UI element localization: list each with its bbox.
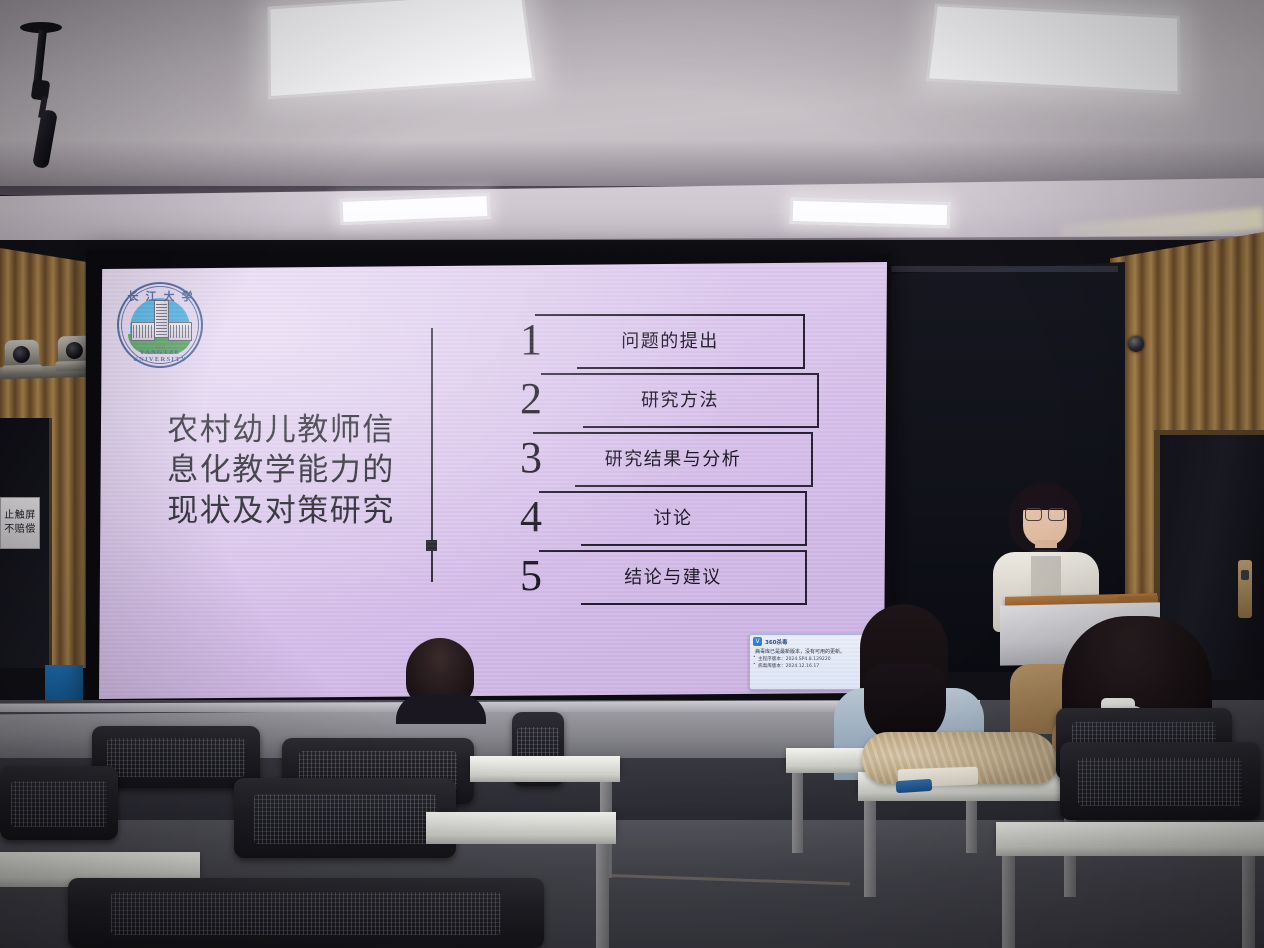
agenda-label: 研究方法 xyxy=(541,386,819,412)
door-handle-icon[interactable] xyxy=(1238,560,1252,618)
agenda-label: 讨论 xyxy=(539,504,807,530)
panel-light-front-right xyxy=(926,4,1181,95)
ceiling-hanging-microphone xyxy=(18,22,64,172)
slide-title: 农村幼儿教师信 息化教学能力的 现状及对策研究 xyxy=(141,410,421,531)
chair-row2-left[interactable] xyxy=(0,766,118,840)
desk-edge xyxy=(996,846,1264,856)
agenda-list: 1 问题的提出 2 研究方法 3 xyxy=(509,314,819,609)
ptz-camera-left xyxy=(2,339,43,378)
agenda-box-bottom-rule xyxy=(583,426,819,428)
desk-row2 xyxy=(426,812,616,834)
slide-title-line-3: 现状及对策研究 xyxy=(141,491,421,531)
agenda-item: 4 讨论 xyxy=(509,491,819,550)
chair-mesh xyxy=(111,892,501,935)
seal-building-left-wing xyxy=(131,322,155,341)
slide-divider-marker xyxy=(426,540,437,551)
desk-leg xyxy=(1002,856,1015,948)
student-shoulders xyxy=(396,694,486,724)
presenter-fringe xyxy=(1017,486,1073,510)
seal-cn-name: 长江大学 xyxy=(117,288,203,304)
agenda-box: 问题的提出 xyxy=(535,314,805,369)
agenda-box-top-rule xyxy=(539,550,807,552)
chair-mesh xyxy=(254,794,436,844)
mic-rod-upper xyxy=(33,30,47,87)
warning-sign: 止触屏 不赔偿 xyxy=(0,497,40,549)
desk-row3 xyxy=(470,756,620,774)
agenda-label: 研究结果与分析 xyxy=(533,445,813,471)
desk-right-front xyxy=(996,822,1264,846)
blue-phone[interactable] xyxy=(896,779,933,793)
agenda-box-top-rule xyxy=(541,373,819,375)
chair-mesh xyxy=(1078,758,1242,806)
agenda-item: 5 结论与建议 xyxy=(509,550,819,609)
agenda-box: 讨论 xyxy=(539,491,807,546)
chair-mesh xyxy=(11,781,108,827)
seal-building-tower xyxy=(154,300,169,338)
strip-light-right xyxy=(790,198,951,228)
chair-mesh xyxy=(107,738,245,776)
agenda-box-bottom-rule xyxy=(581,544,807,546)
dome-camera-icon xyxy=(1128,336,1144,352)
desk-row1-left xyxy=(0,852,200,876)
slide-title-line-2: 息化教学能力的 xyxy=(141,450,421,490)
desk-leg xyxy=(1242,856,1255,948)
chair-right-near[interactable] xyxy=(1060,742,1260,820)
student-front-center xyxy=(396,638,486,716)
desk-edge xyxy=(426,834,616,844)
agenda-box-bottom-rule xyxy=(577,367,805,369)
desk-leg xyxy=(792,773,803,853)
chair-row2-mid[interactable] xyxy=(234,778,456,858)
agenda-item: 1 问题的提出 xyxy=(509,314,819,373)
slide-title-line-1: 农村幼儿教师信 xyxy=(141,410,421,450)
agenda-box: 研究结果与分析 xyxy=(533,432,813,487)
shield-icon: V xyxy=(753,637,762,646)
ptz-base xyxy=(2,364,42,375)
agenda-label: 结论与建议 xyxy=(539,563,807,589)
dark-wall-top-highlight xyxy=(890,266,1118,272)
agenda-item: 2 研究方法 xyxy=(509,373,819,432)
agenda-box: 研究方法 xyxy=(541,373,819,428)
warning-sign-line-1: 止触屏 xyxy=(4,509,36,524)
warning-sign-line-2: 不赔偿 xyxy=(4,523,36,538)
projection-screen: 长江大学 1950 YANGTZE UNIVERSITY 农村幼儿教师信 息化教… xyxy=(99,262,887,699)
agenda-box: 结论与建议 xyxy=(539,550,807,605)
desk-leg xyxy=(864,801,876,897)
seal-building-right-wing xyxy=(168,322,192,341)
desk-leg xyxy=(596,844,609,948)
agenda-box-top-rule xyxy=(533,432,813,434)
classroom-photo: 止触屏 不赔偿 长江大学 1950 YANGTZE UNIVERSITY 农村幼… xyxy=(0,0,1264,948)
seal-en-name: YANGTZE UNIVERSITY xyxy=(117,349,203,363)
agenda-box-top-rule xyxy=(539,491,807,493)
desk-edge xyxy=(470,774,620,782)
university-seal-icon: 长江大学 1950 YANGTZE UNIVERSITY xyxy=(117,282,203,368)
agenda-item: 3 研究结果与分析 xyxy=(509,432,819,491)
desk-edge xyxy=(858,792,1084,801)
mic-capsule xyxy=(32,109,58,169)
agenda-label: 问题的提出 xyxy=(535,327,805,353)
agenda-box-bottom-rule xyxy=(581,603,807,605)
agenda-box-top-rule xyxy=(535,314,805,316)
glasses-icon xyxy=(1025,508,1065,519)
chair-row1-front[interactable] xyxy=(68,878,544,948)
agenda-box-bottom-rule xyxy=(575,485,813,487)
popup-brand-label: 360杀毒 xyxy=(765,638,787,646)
